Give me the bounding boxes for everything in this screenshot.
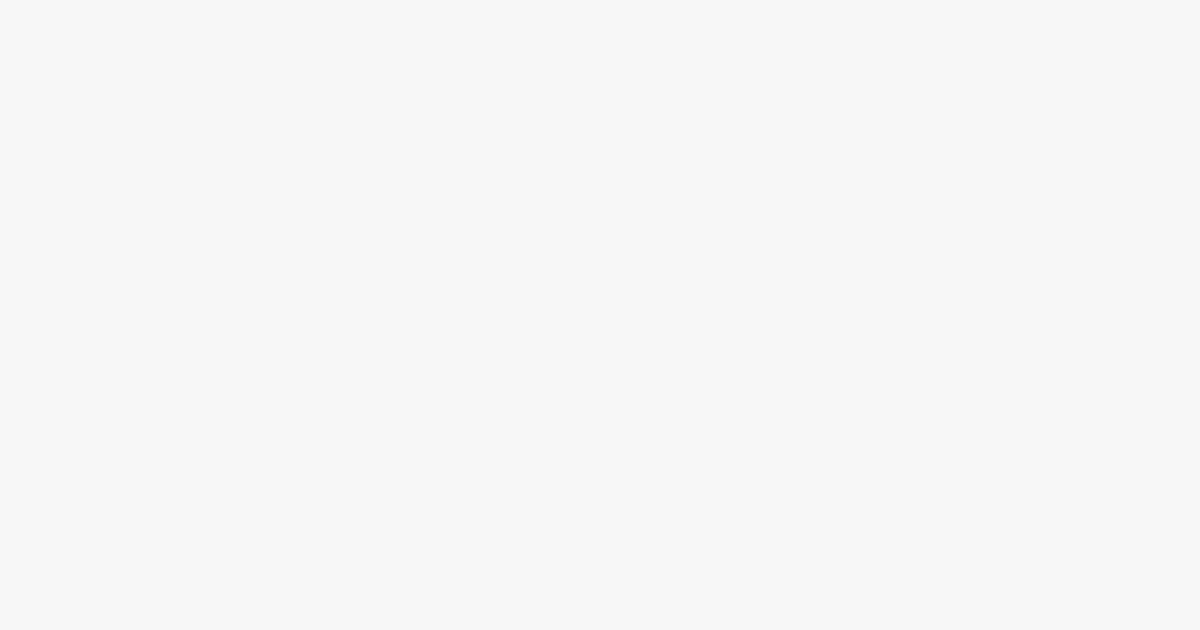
infographic-canvas: [0, 0, 1200, 630]
